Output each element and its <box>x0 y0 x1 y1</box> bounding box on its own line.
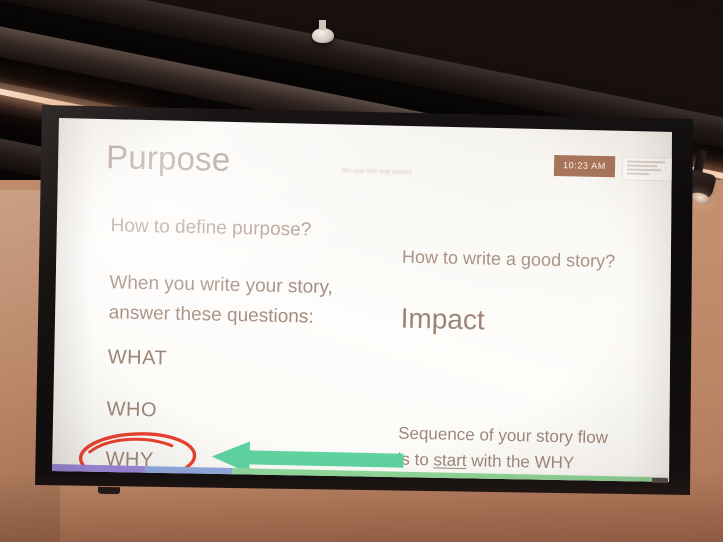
slide-content: Purpose We use this tiny period 10:23 AM… <box>45 117 675 486</box>
led-light-strip <box>619 0 723 34</box>
wall-bottom-shadow <box>0 472 723 542</box>
photo-scene: Purpose We use this tiny period 10:23 AM… <box>0 0 723 542</box>
list-item-what: WHAT <box>108 346 168 370</box>
slide-title: Purpose <box>106 138 231 179</box>
sequence-suffix: with the WHY <box>466 451 574 472</box>
slide-surface: Purpose We use this tiny period 10:23 AM… <box>33 93 698 498</box>
impact-keyword: Impact <box>400 303 485 337</box>
left-column-question: How to define purpose? <box>110 215 311 241</box>
slide-tiny-note: We use this tiny period <box>342 168 412 176</box>
sequence-text: Sequence of your story flow is to start … <box>397 421 608 478</box>
left-column-instruction: When you write your story, answer these … <box>108 268 333 333</box>
instruction-line-1: When you write your story, <box>109 268 333 303</box>
ceiling-sensor-icon <box>312 28 334 43</box>
clock-widget-panel <box>622 156 676 181</box>
sequence-underlined-word: start <box>433 450 466 470</box>
instruction-line-2: answer these questions: <box>108 298 332 333</box>
display-screen[interactable]: Purpose We use this tiny period 10:23 AM… <box>33 93 698 498</box>
list-item-who: WHO <box>106 398 157 422</box>
time-badge: 10:23 AM <box>554 155 615 177</box>
right-column-question: How to write a good story? <box>402 247 616 273</box>
